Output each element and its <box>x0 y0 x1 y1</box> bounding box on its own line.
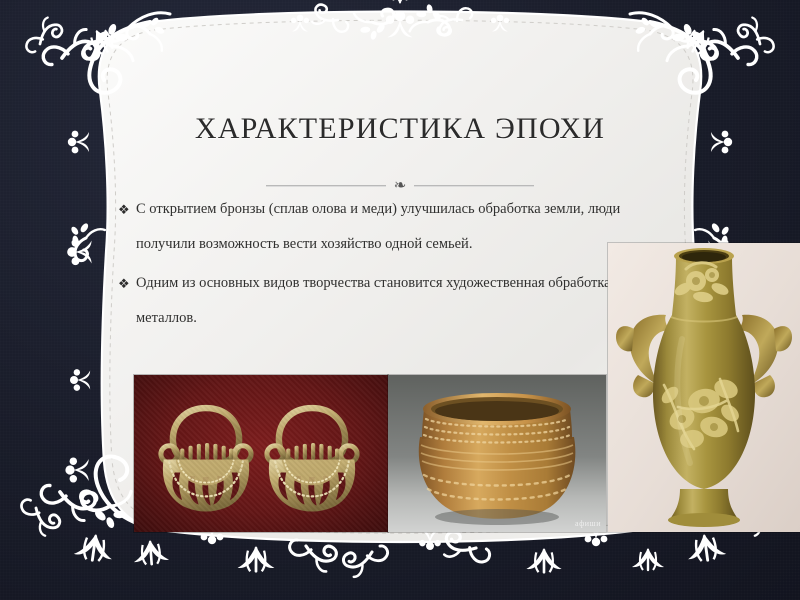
bullet-marker-icon: ❖ <box>118 266 130 301</box>
bullet-item: ❖ С открытием бронзы (сплав олова и меди… <box>118 192 666 262</box>
divider-rule-right <box>414 185 534 187</box>
bullet-text: Одним из основных видов творчества стано… <box>136 275 611 326</box>
bullet-item: ❖ Одним из основных видов творчества ста… <box>118 266 666 336</box>
image-bowl: афиши <box>388 375 606 532</box>
bowl-artwork <box>388 375 606 532</box>
bullet-marker-icon: ❖ <box>118 192 130 227</box>
watermark: афиши <box>575 519 601 528</box>
image-vase <box>608 243 800 532</box>
body-text: ❖ С открытием бронзы (сплав олова и меди… <box>118 192 666 340</box>
slide: ХАРАКТЕРИСТИКА ЭПОХИ ❧ ❖ С открытием бро… <box>0 0 800 600</box>
image-earrings <box>134 375 388 532</box>
divider-rule-left <box>266 185 386 187</box>
earrings-artwork <box>134 375 388 532</box>
page-title: ХАРАКТЕРИСТИКА ЭПОХИ <box>0 112 800 146</box>
bullet-text: С открытием бронзы (сплав олова и меди) … <box>136 201 620 252</box>
vase-artwork <box>608 243 800 532</box>
